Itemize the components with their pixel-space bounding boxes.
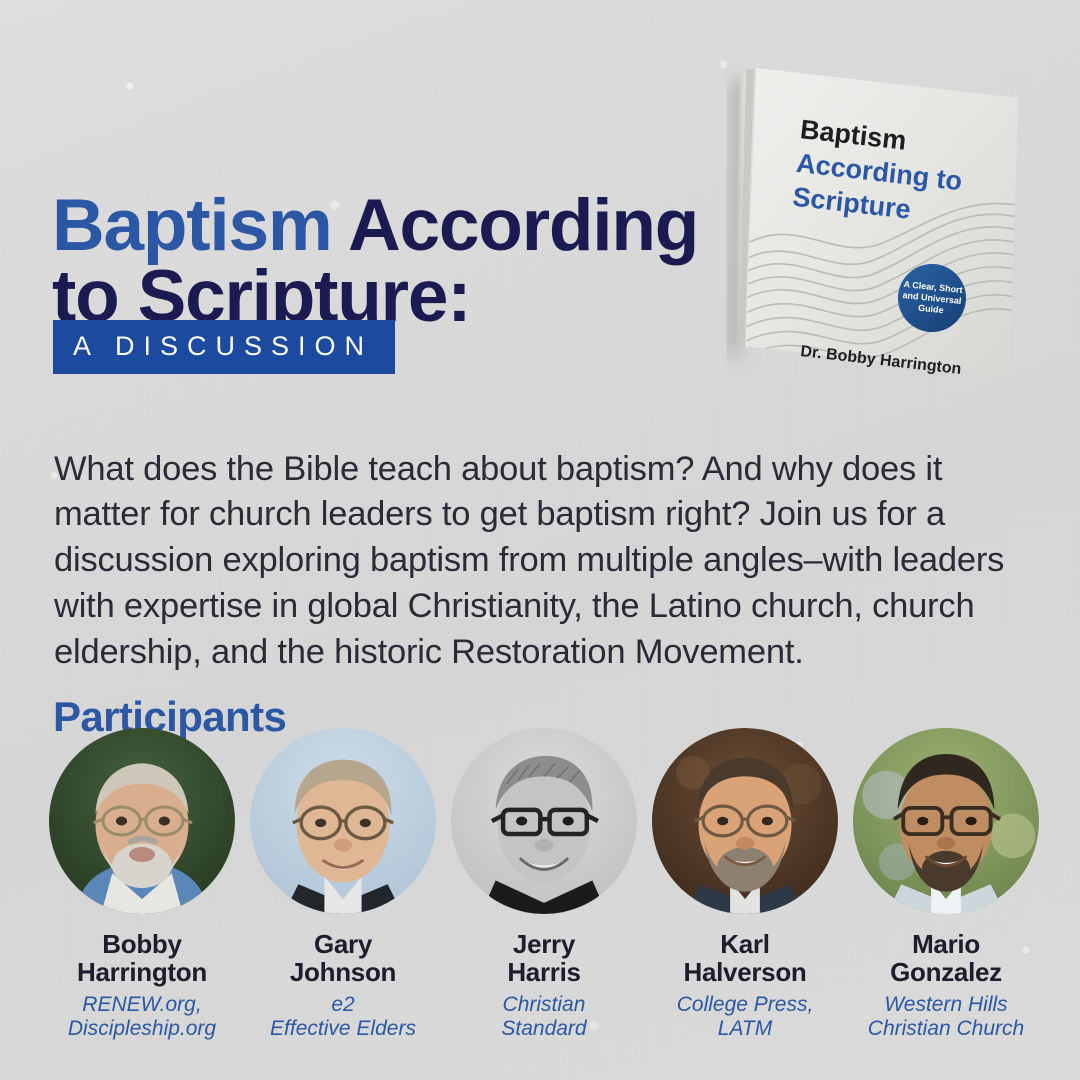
- participant-organization: Western Hills Christian Church: [868, 993, 1024, 1040]
- participant-organization: RENEW.org, Discipleship.org: [68, 993, 216, 1040]
- participant-org-line1: College Press,: [677, 993, 814, 1016]
- page-title: Baptism According to Scripture:: [52, 191, 742, 333]
- description-paragraph: What does the Bible teach about baptism?…: [54, 447, 1039, 676]
- participant-name: Bobby Harrington: [77, 930, 207, 986]
- participant-card: Bobby Harrington RENEW.org, Discipleship…: [44, 728, 240, 1040]
- participant-name: Mario Gonzalez: [890, 930, 1002, 986]
- participant-name-line2: Harris: [507, 957, 580, 987]
- participant-org-line2: Discipleship.org: [68, 1017, 216, 1040]
- participant-card: Gary Johnson e2 Effective Elders: [245, 728, 441, 1040]
- participant-card: Mario Gonzalez Western Hills Christian C…: [848, 728, 1044, 1040]
- participant-org-line2: LATM: [718, 1017, 772, 1040]
- participant-name: Jerry Harris: [507, 930, 580, 986]
- participant-name-line1: Bobby: [102, 929, 181, 959]
- participant-name-line2: Johnson: [290, 957, 396, 987]
- participant-name-line1: Mario: [912, 929, 980, 959]
- participant-org-line1: e2: [331, 993, 354, 1016]
- participant-name-line1: Jerry: [513, 929, 575, 959]
- headline-word-according: According: [332, 185, 699, 266]
- avatar: [49, 728, 235, 914]
- participant-organization: e2 Effective Elders: [270, 993, 416, 1040]
- participant-organization: Christian Standard: [501, 993, 586, 1040]
- headline-word-baptism: Baptism: [52, 185, 332, 266]
- participant-organization: College Press, LATM: [677, 993, 814, 1040]
- participant-name-line2: Harrington: [77, 957, 207, 987]
- poster-canvas: A Clear, Short and Universal Guide Bapti…: [0, 0, 1080, 1080]
- avatar: [250, 728, 436, 914]
- avatar: [853, 728, 1039, 914]
- participant-org-line2: Standard: [501, 1017, 586, 1040]
- participant-card: Karl Halverson College Press, LATM: [647, 728, 843, 1040]
- avatar: [451, 728, 637, 914]
- participant-name: Karl Halverson: [683, 930, 806, 986]
- participant-org-line1: Christian: [503, 993, 586, 1016]
- participant-name-line1: Gary: [314, 929, 372, 959]
- participant-name-line2: Halverson: [683, 957, 806, 987]
- participant-org-line2: Christian Church: [868, 1017, 1024, 1040]
- participants-list: Bobby Harrington RENEW.org, Discipleship…: [44, 728, 1044, 1040]
- participant-name: Gary Johnson: [290, 930, 396, 986]
- participant-card: Jerry Harris Christian Standard: [446, 728, 642, 1040]
- subtitle-badge: A DISCUSSION: [53, 320, 395, 374]
- book-mockup: A Clear, Short and Universal Guide Bapti…: [722, 46, 1042, 396]
- participant-org-line1: RENEW.org,: [82, 993, 201, 1016]
- book-front-cover: [746, 68, 1018, 376]
- participant-name-line2: Gonzalez: [890, 957, 1002, 987]
- participant-org-line1: Western Hills: [884, 993, 1007, 1016]
- avatar: [652, 728, 838, 914]
- participant-name-line1: Karl: [720, 929, 769, 959]
- participant-org-line2: Effective Elders: [270, 1017, 416, 1040]
